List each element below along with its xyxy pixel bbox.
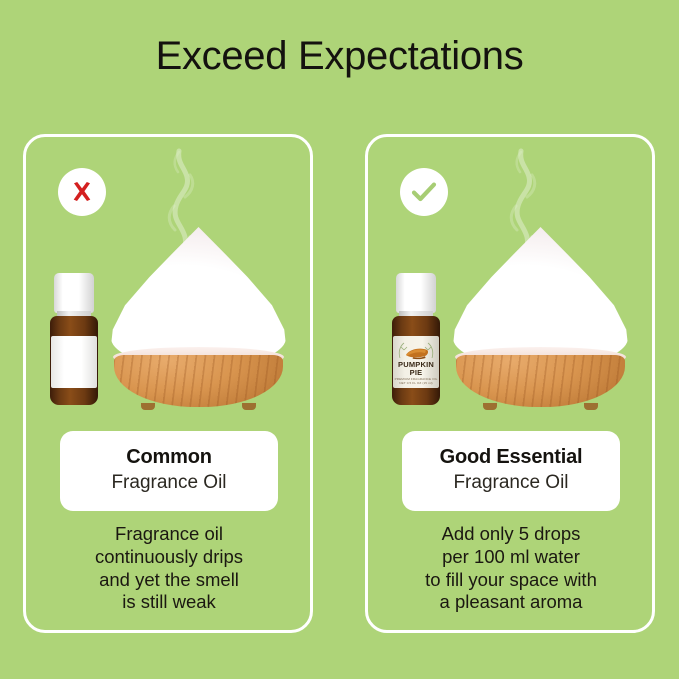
description-line: Fragrance oil <box>38 523 300 546</box>
bottle-label-pumpkin-pie: PUMPKIN PIE PREMIUM FRAGRANCE OIL NET 0.… <box>393 336 439 388</box>
bottle-label-name-line-2: PIE <box>410 369 423 377</box>
description-line: Add only 5 drops <box>380 523 642 546</box>
product-brand: Good Essential <box>412 445 610 469</box>
description-line: to fill your space with <box>380 569 642 592</box>
diffuser-foot <box>141 403 155 410</box>
panel-common: Common Fragrance Oil Fragrance oil conti… <box>23 134 313 633</box>
diffuser-dome <box>111 227 286 362</box>
panel-good-essential: PUMPKIN PIE PREMIUM FRAGRANCE OIL NET 0.… <box>365 134 655 633</box>
diffuser-foot <box>242 403 256 410</box>
fragrance-oil-bottle: PUMPKIN PIE PREMIUM FRAGRANCE OIL NET 0.… <box>390 273 442 405</box>
product-type: Fragrance Oil <box>70 471 268 495</box>
product-name-card: Good Essential Fragrance Oil <box>402 431 620 511</box>
diffuser-device <box>453 227 628 407</box>
product-scene-common <box>26 137 310 427</box>
description-line: is still weak <box>38 591 300 614</box>
description-line: and yet the smell <box>38 569 300 592</box>
bottle-label-blank <box>51 336 97 388</box>
bottle-cap <box>396 273 436 313</box>
diffuser-dome <box>453 227 628 362</box>
product-name-card: Common Fragrance Oil <box>60 431 278 511</box>
diffuser-wood-base <box>456 355 625 407</box>
description-line: per 100 ml water <box>380 546 642 569</box>
pumpkin-pie-slice-icon <box>393 338 439 362</box>
fragrance-oil-bottle <box>48 273 100 405</box>
bottle-label-sub-line-2: NET 0.5 FL OZ (15 ml) <box>399 381 432 385</box>
description-line: a pleasant aroma <box>380 591 642 614</box>
product-brand: Common <box>70 445 268 469</box>
diffuser-foot <box>483 403 497 410</box>
product-type: Fragrance Oil <box>412 471 610 495</box>
bottle-cap <box>54 273 94 313</box>
product-scene-good-essential: PUMPKIN PIE PREMIUM FRAGRANCE OIL NET 0.… <box>368 137 652 427</box>
product-description: Fragrance oil continuously drips and yet… <box>38 523 300 614</box>
diffuser-wood-base <box>114 355 283 407</box>
page-title: Exceed Expectations <box>0 34 679 78</box>
product-description: Add only 5 drops per 100 ml water to fil… <box>380 523 642 614</box>
description-line: continuously drips <box>38 546 300 569</box>
diffuser-device <box>111 227 286 407</box>
comparison-panels: Common Fragrance Oil Fragrance oil conti… <box>0 134 679 634</box>
diffuser-foot <box>584 403 598 410</box>
